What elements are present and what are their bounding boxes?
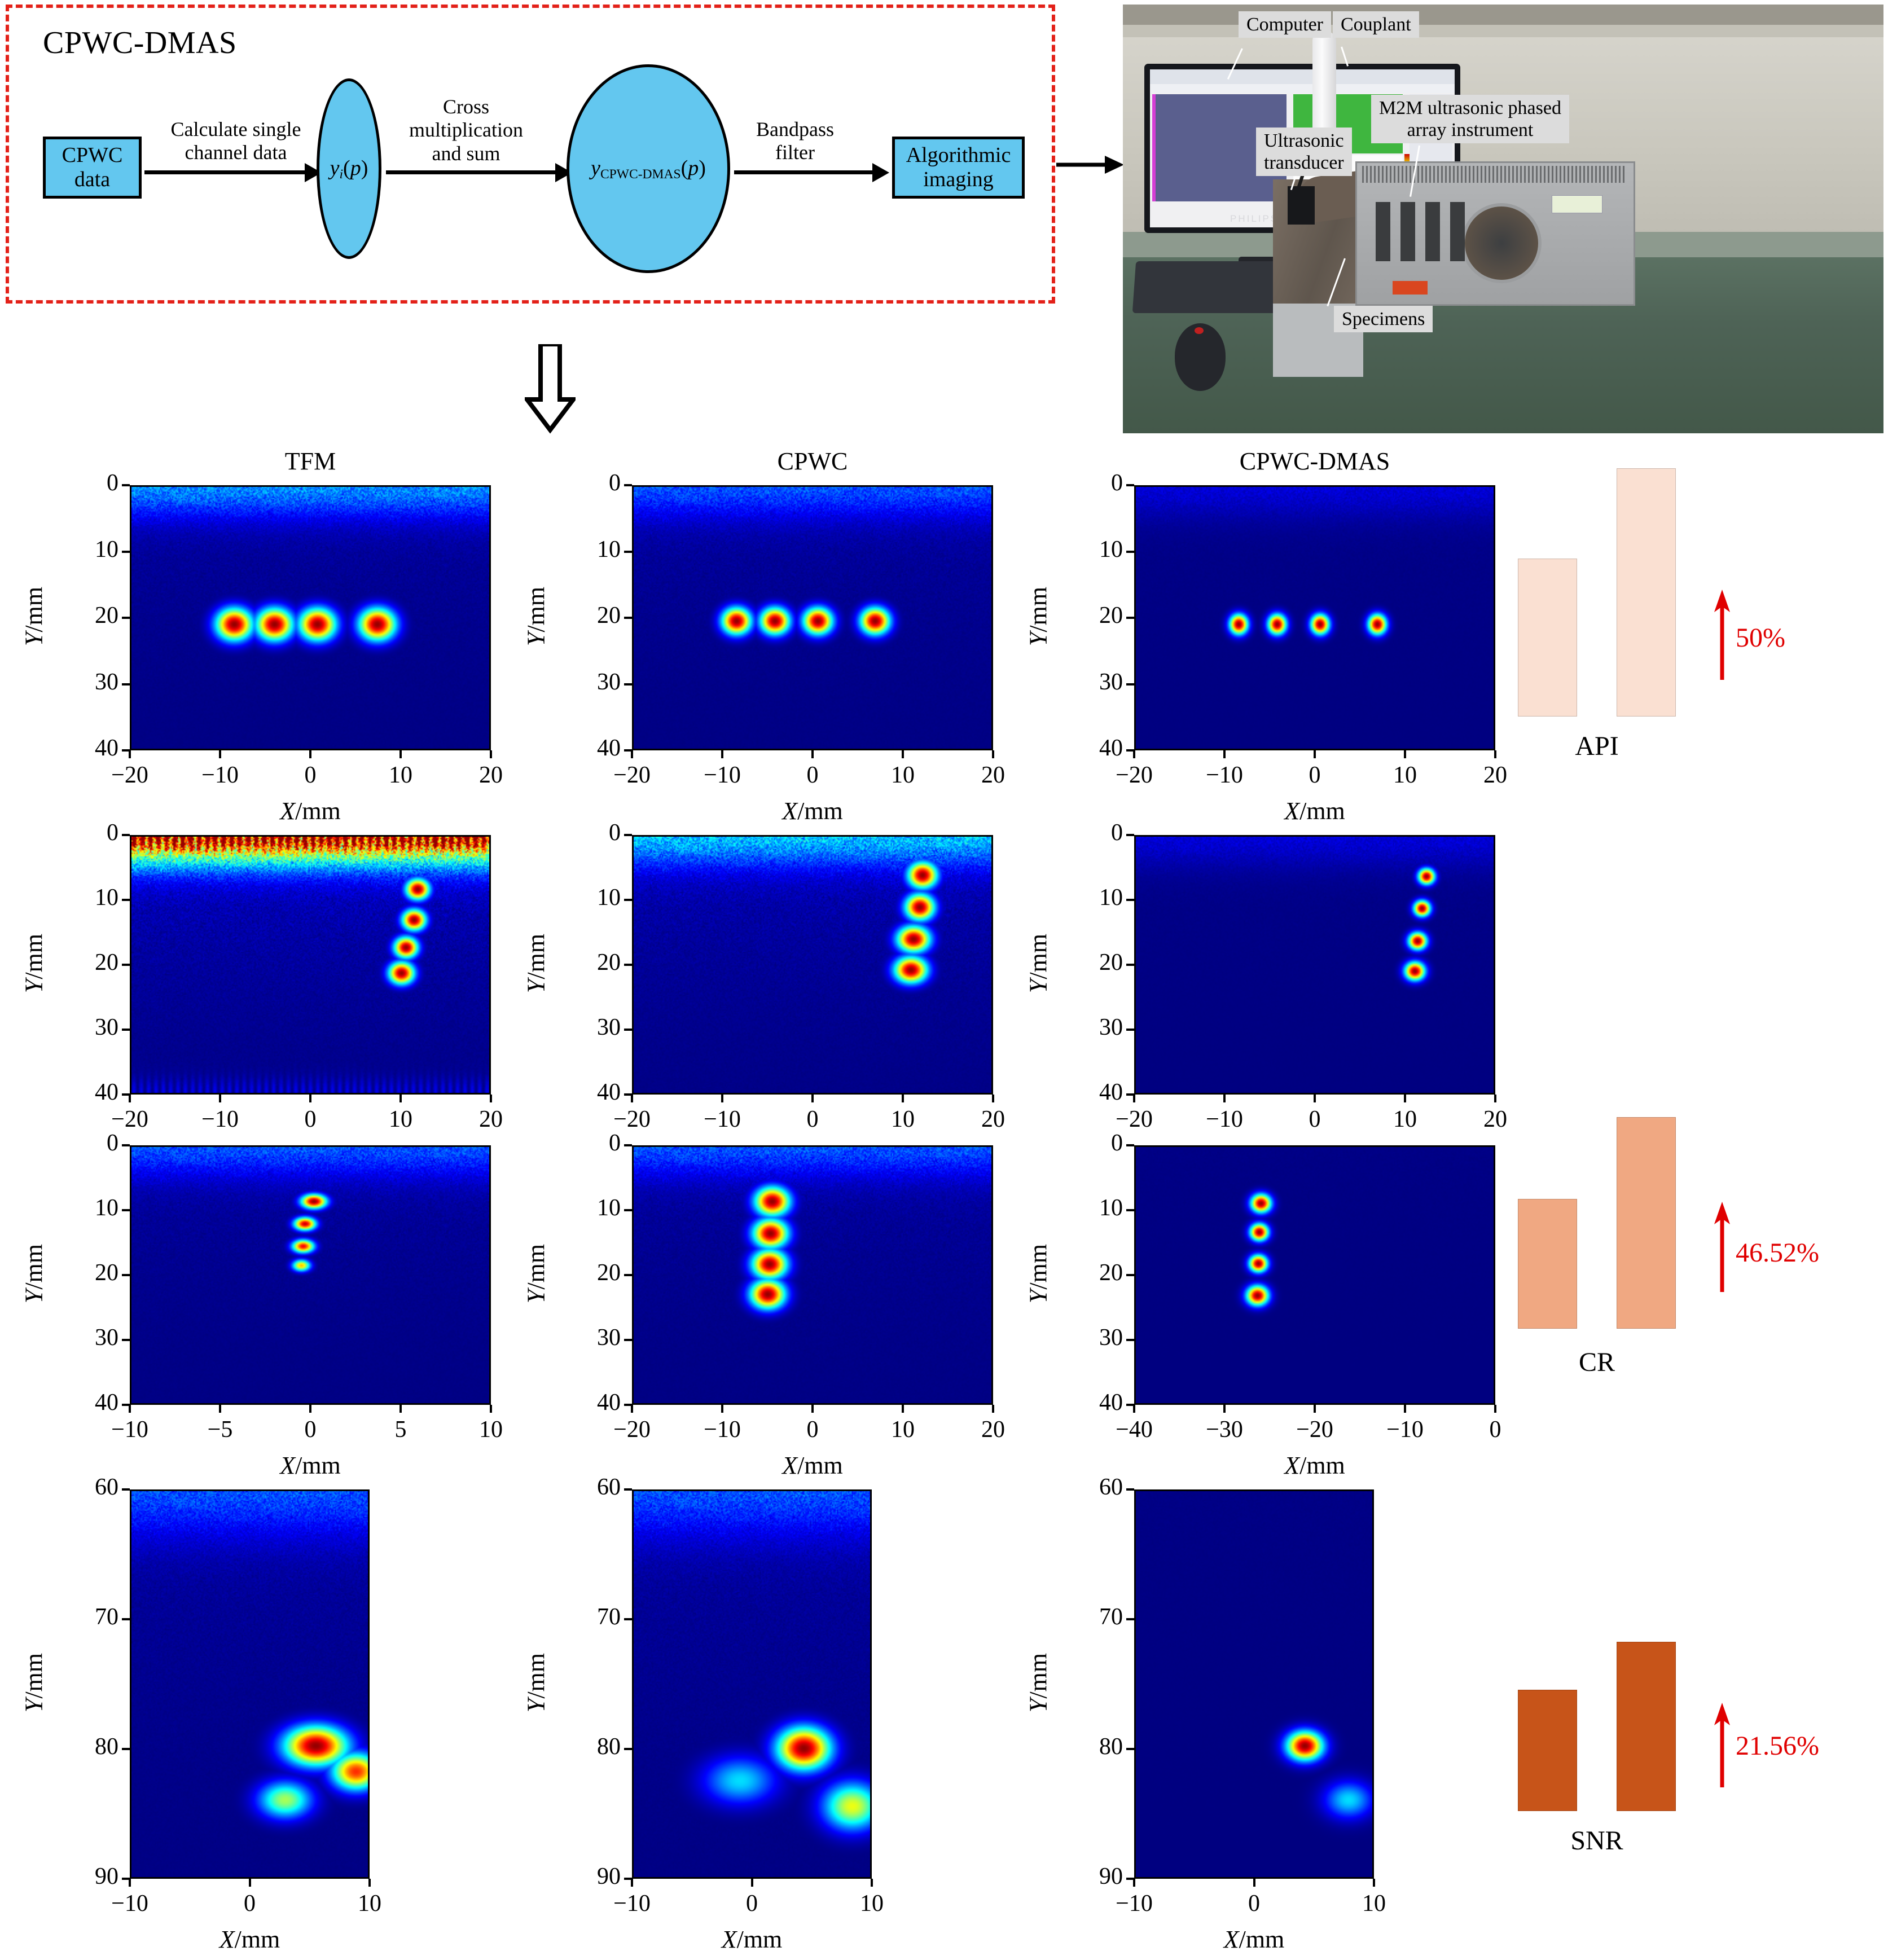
node-cpwc-data-label: CPWCdata [62,143,123,191]
ytick-mark [1126,484,1134,486]
ytick-label: 10 [62,884,118,911]
ytick-mark [122,1029,130,1031]
ytick-label: 30 [564,669,621,696]
improvement-label-api: 50% [1736,622,1785,653]
ytick-label: 40 [1066,735,1123,762]
xtick-label: 0 [1209,1890,1299,1917]
callout-computer: Computer [1239,11,1331,38]
heatmap-image-row4-cpwc [632,1489,872,1879]
ytick-label: 60 [564,1474,621,1501]
heatmap-image-row2-cpwc-dmas [1134,835,1495,1095]
ytick-label: 20 [1066,949,1123,976]
flow-arrow-3-head [872,163,889,182]
axis-label-y-row1-cpwc-dmas: Y/mm [1024,532,1053,701]
ytick-mark [1126,617,1134,619]
heatmap-image-row3-tfm [130,1145,491,1405]
ytick-label: 80 [1066,1733,1123,1760]
xtick-mark [902,1405,904,1413]
xtick-mark [1223,1405,1226,1413]
xtick-mark [1223,1095,1226,1102]
ytick-mark [1126,899,1134,901]
xtick-label: 5 [355,1416,446,1443]
heatmap-image-row1-cpwc [632,485,993,750]
xtick-label: −10 [1360,1416,1450,1443]
ytick-label: 10 [1066,884,1123,911]
ytick-mark [1126,964,1134,966]
instrument-connector-1 [1376,202,1390,261]
flow-arrow-1 [144,170,307,174]
xtick-label: 0 [1270,762,1360,789]
xtick-mark [490,1095,492,1102]
panel-title-cpwc-dmas: CPWC-DMAS [1134,447,1495,476]
xtick-label: 10 [324,1890,415,1917]
ytick-label: 0 [62,1130,118,1157]
axis-label-y-row4-tfm: Y/mm [20,1598,49,1768]
panel-title-tfm: TFM [130,447,491,476]
ytick-label: 30 [62,669,118,696]
node-yi-p[interactable]: yi(p) [317,78,381,259]
instrument-connector-2 [1400,202,1415,261]
ytick-mark [1126,1339,1134,1341]
xtick-mark [399,750,402,758]
improvement-arrow-snr-icon [1713,1703,1732,1787]
ytick-label: 20 [564,1259,621,1286]
heatmap-image-row3-cpwc [632,1145,993,1405]
xtick-label: −20 [85,1106,175,1133]
ytick-mark [624,1029,632,1031]
axis-label-x-row4-cpwc: X/mm [632,1925,872,1954]
xtick-mark [129,750,131,758]
ytick-mark [624,1209,632,1211]
xtick-label: −10 [1179,1106,1270,1133]
ytick-label: 10 [564,536,621,563]
xtick-label: −20 [587,1106,677,1133]
ytick-mark [1126,1618,1134,1620]
ytick-label: 40 [564,735,621,762]
axis-label-x-row3-cpwc-dmas: X/mm [1134,1451,1495,1480]
flowchart-panel: CPWC-DMAS CPWCdata Calculate singlechann… [6,5,1055,304]
ytick-mark [624,617,632,619]
ytick-label: 0 [62,469,118,496]
ytick-label: 30 [1066,1014,1123,1041]
node-ycpwc-dmas-p-label: yCPWC-DMAS(p) [591,156,706,182]
xtick-mark [1223,750,1226,758]
bar-api-cpwc [1518,559,1577,717]
xtick-label: −20 [1270,1416,1360,1443]
axis-label-x-row3-cpwc: X/mm [632,1451,993,1480]
improvement-arrow-api-icon [1713,590,1732,680]
ytick-label: 90 [62,1863,118,1890]
xtick-mark [811,750,814,758]
instrument-fan [1461,203,1542,283]
ytick-mark [624,899,632,901]
axis-label-y-row3-cpwc: Y/mm [522,1189,551,1359]
ytick-label: 20 [1066,1259,1123,1286]
xtick-mark [219,1405,221,1413]
ytick-label: 80 [564,1733,621,1760]
ytick-mark [1126,1029,1134,1031]
ytick-label: 70 [564,1603,621,1631]
xtick-label: 10 [446,1416,536,1443]
xtick-label: −10 [677,762,767,789]
metric-chart-cr: 46.52% CR [1490,1078,1806,1394]
ytick-mark [624,964,632,966]
node-yi-p-label: yi(p) [330,156,368,182]
xtick-mark [902,750,904,758]
xtick-label: 10 [355,1106,446,1133]
xtick-mark [1494,1405,1496,1413]
ytick-mark [1126,1144,1134,1146]
xtick-label: −10 [1089,1890,1179,1917]
bar-api-cpwc-dmas [1617,468,1676,717]
xtick-mark [631,1095,633,1102]
xtick-label: 0 [767,1106,858,1133]
ytick-mark [1126,1209,1134,1211]
xtick-mark [309,750,311,758]
heatmap-image-row2-tfm [130,835,491,1095]
ytick-mark [624,683,632,685]
ytick-mark [122,551,130,553]
xtick-mark [1314,1095,1316,1102]
ytick-label: 40 [1066,1079,1123,1106]
axis-label-x-row4-tfm: X/mm [130,1925,370,1954]
ytick-mark [122,683,130,685]
ytick-label: 40 [62,1079,118,1106]
ytick-label: 90 [564,1863,621,1890]
metric-chart-snr: 21.56% SNR [1490,1625,1806,1941]
ytick-label: 10 [1066,536,1123,563]
axis-label-y-row4-cpwc: Y/mm [522,1598,551,1768]
xtick-mark [490,1405,492,1413]
xtick-label: 10 [858,1416,948,1443]
heatmap-image-row4-cpwc-dmas [1134,1489,1374,1879]
panel-title-cpwc: CPWC [632,447,993,476]
xtick-label: −10 [175,1106,265,1133]
xtick-label: 0 [205,1890,295,1917]
xtick-label: −10 [85,1416,175,1443]
xtick-mark [992,750,994,758]
ytick-mark [624,1618,632,1620]
xtick-mark [129,1405,131,1413]
xtick-label: −20 [1089,762,1179,789]
xtick-mark [631,750,633,758]
edge-label-calculate-single-channel-data: Calculate singlechannel data [151,118,320,165]
axis-label-x-row1-tfm: X/mm [130,797,491,825]
metric-label-api: API [1512,731,1681,762]
heatmap-image-row4-tfm [130,1489,370,1879]
xtick-mark [1404,1405,1406,1413]
xtick-label: 20 [948,1106,1038,1133]
ultrasonic-transducer-probe [1288,186,1315,225]
instrument-connector-4 [1450,202,1465,261]
photo-shelf-edge [1123,25,1883,37]
xtick-label: 10 [1360,762,1450,789]
xtick-mark [129,1095,131,1102]
improvement-arrow-cr-icon [1713,1202,1732,1292]
axis-label-x-row3-tfm: X/mm [130,1451,491,1480]
ytick-label: 40 [1066,1389,1123,1416]
bar-snr-cpwc-dmas [1617,1642,1676,1811]
heatmap-image-row1-cpwc-dmas [1134,485,1495,750]
ytick-label: 40 [564,1389,621,1416]
xtick-mark [871,1879,873,1887]
ytick-mark [122,1339,130,1341]
instrument-m2m-logo [1393,281,1428,295]
ytick-label: 0 [564,469,621,496]
xtick-label: 20 [446,762,536,789]
ytick-label: 30 [564,1324,621,1351]
ytick-label: 30 [1066,669,1123,696]
ytick-mark [624,551,632,553]
xtick-label: −10 [587,1890,677,1917]
mouse-scroll-dot [1195,327,1204,334]
xtick-mark [1253,1879,1255,1887]
screen-toolbar [1150,69,1455,84]
ytick-label: 10 [62,536,118,563]
improvement-label-cr: 46.52% [1736,1237,1819,1268]
xtick-label: −10 [1179,762,1270,789]
ytick-mark [122,1618,130,1620]
ytick-mark [624,1488,632,1491]
ytick-label: 0 [1066,1130,1123,1157]
xtick-mark [631,1405,633,1413]
xtick-label: 10 [858,1106,948,1133]
xtick-mark [490,750,492,758]
bar-cr-cpwc-dmas [1617,1117,1676,1329]
xtick-mark [249,1879,251,1887]
ytick-mark [122,1144,130,1146]
improvement-label-snr: 21.56% [1736,1730,1819,1761]
xtick-label: 0 [1270,1106,1360,1133]
ytick-label: 80 [62,1733,118,1760]
ytick-label: 30 [1066,1324,1123,1351]
experimental-setup-photo: PHILIPS Computer Couplant Ultrasonictran… [1123,5,1883,433]
ytick-label: 0 [62,819,118,846]
axis-label-y-row1-tfm: Y/mm [20,532,49,701]
axis-label-x-row1-cpwc: X/mm [632,797,993,825]
xtick-label: −40 [1089,1416,1179,1443]
ytick-label: 40 [564,1079,621,1106]
ytick-mark [624,834,632,836]
axis-label-y-row2-cpwc-dmas: Y/mm [1024,879,1053,1048]
xtick-mark [219,750,221,758]
ytick-mark [624,1748,632,1750]
xtick-mark [1133,1405,1135,1413]
axis-label-x-row1-cpwc-dmas: X/mm [1134,797,1495,825]
ytick-label: 20 [62,602,118,629]
xtick-mark [219,1095,221,1102]
callout-ultrasonic-transducer: Ultrasonictransducer [1256,128,1352,176]
ytick-label: 0 [1066,469,1123,496]
xtick-mark [368,1879,371,1887]
xtick-mark [1314,750,1316,758]
instrument-connector-3 [1425,202,1440,261]
xtick-label: 0 [767,1416,858,1443]
ytick-label: 70 [62,1603,118,1631]
xtick-label: 0 [265,1106,355,1133]
ytick-mark [1126,1274,1134,1276]
xtick-label: −5 [175,1416,265,1443]
ytick-mark [624,1339,632,1341]
ytick-label: 40 [62,1389,118,1416]
xtick-mark [811,1405,814,1413]
ytick-mark [122,484,130,486]
xtick-mark [721,750,723,758]
monitor-brand-label: PHILIPS [1230,213,1279,225]
metric-label-cr: CR [1512,1347,1681,1378]
callout-couplant: Couplant [1333,11,1419,38]
heatmap-image-row3-cpwc-dmas [1134,1145,1495,1405]
ytick-label: 40 [62,735,118,762]
flow-arrow-3 [734,170,875,174]
screen-bscan-edge [1152,94,1156,201]
bar-cr-cpwc [1518,1199,1577,1329]
bar-snr-cpwc [1518,1690,1577,1811]
node-algorithmic-imaging[interactable]: Algorithmicimaging [892,137,1025,199]
xtick-mark [1133,1879,1135,1887]
flowchart-title: CPWC-DMAS [43,25,237,61]
axis-label-y-row1-cpwc: Y/mm [522,532,551,701]
xtick-mark [751,1879,753,1887]
ytick-label: 30 [62,1014,118,1041]
node-cpwc-data[interactable]: CPWCdata [43,137,142,199]
metric-label-snr: SNR [1512,1825,1681,1856]
xtick-mark [399,1095,402,1102]
xtick-mark [721,1405,723,1413]
axis-label-y-row2-cpwc: Y/mm [522,879,551,1048]
ytick-label: 70 [1066,1603,1123,1631]
xtick-mark [1314,1405,1316,1413]
xtick-mark [309,1095,311,1102]
ytick-mark [1126,1748,1134,1750]
ytick-mark [122,1748,130,1750]
ytick-label: 10 [564,884,621,911]
xtick-label: −10 [85,1890,175,1917]
screen-toolbar-2 [1150,84,1455,93]
xtick-mark [1373,1879,1375,1887]
ytick-mark [1126,683,1134,685]
heatmap-image-row2-cpwc [632,835,993,1095]
xtick-label: 20 [948,762,1038,789]
xtick-mark [399,1405,402,1413]
ytick-label: 30 [62,1324,118,1351]
xtick-label: −10 [677,1106,767,1133]
xtick-label: 0 [265,762,355,789]
axis-label-x-row4-cpwc-dmas: X/mm [1134,1925,1374,1954]
xtick-mark [992,1095,994,1102]
instrument-calibrated-sticker [1552,195,1602,213]
xtick-label: 10 [1360,1106,1450,1133]
xtick-mark [811,1095,814,1102]
edge-label-cross-multiplication-and-sum: Crossmultiplicationand sum [381,95,551,165]
callout-m2m-instrument: M2M ultrasonic phasedarray instrument [1371,95,1569,143]
axis-label-y-row2-tfm: Y/mm [20,879,49,1048]
ytick-label: 10 [1066,1194,1123,1221]
ytick-mark [1126,1488,1134,1491]
xtick-mark [1133,750,1135,758]
ytick-label: 0 [564,819,621,846]
ytick-label: 20 [564,602,621,629]
flow-arrow-2 [386,170,558,174]
xtick-mark [129,1879,131,1887]
ytick-mark [122,1488,130,1491]
ytick-mark [1126,834,1134,836]
ytick-mark [122,1209,130,1211]
xtick-label: −20 [587,762,677,789]
edge-label-bandpass-filter: Bandpassfilter [730,118,860,165]
xtick-label: 10 [1329,1890,1419,1917]
ytick-mark [122,617,130,619]
ytick-mark [122,899,130,901]
xtick-label: 0 [707,1890,797,1917]
xtick-label: −10 [677,1416,767,1443]
ytick-mark [1126,551,1134,553]
ytick-mark [624,1274,632,1276]
ytick-label: 20 [564,949,621,976]
ytick-label: 0 [1066,819,1123,846]
xtick-label: 0 [265,1416,355,1443]
xtick-label: 10 [827,1890,917,1917]
ytick-mark [624,1144,632,1146]
ytick-label: 10 [62,1194,118,1221]
xtick-mark [309,1405,311,1413]
ytick-mark [122,964,130,966]
xtick-mark [721,1095,723,1102]
ytick-label: 10 [564,1194,621,1221]
xtick-mark [1404,750,1406,758]
section-down-arrow-icon [525,344,576,434]
xtick-label: 0 [767,762,858,789]
ytick-label: 20 [1066,602,1123,629]
ytick-label: 0 [564,1130,621,1157]
xtick-label: −30 [1179,1416,1270,1443]
instrument-vent [1362,166,1625,183]
ytick-label: 30 [564,1014,621,1041]
xtick-label: 0 [1450,1416,1540,1443]
axis-label-y-row4-cpwc-dmas: Y/mm [1024,1598,1053,1768]
xtick-mark [631,1879,633,1887]
xtick-label: −20 [1089,1106,1179,1133]
axis-label-y-row3-tfm: Y/mm [20,1189,49,1359]
xtick-label: 10 [355,762,446,789]
callout-specimens: Specimens [1334,306,1433,332]
node-algorithmic-imaging-label: Algorithmicimaging [906,143,1011,191]
flow-to-photo-arrow-icon [1056,148,1124,182]
ytick-label: 60 [1066,1474,1123,1501]
xtick-mark [992,1405,994,1413]
xtick-label: −10 [175,762,265,789]
ytick-label: 60 [62,1474,118,1501]
xtick-label: 20 [446,1106,536,1133]
ytick-label: 20 [62,949,118,976]
ytick-mark [122,834,130,836]
xtick-mark [1133,1095,1135,1102]
ytick-label: 20 [62,1259,118,1286]
heatmap-image-row1-tfm [130,485,491,750]
xtick-mark [902,1095,904,1102]
metric-chart-api: 50% API [1490,468,1806,784]
ytick-mark [624,484,632,486]
xtick-label: 10 [858,762,948,789]
axis-label-y-row3-cpwc-dmas: Y/mm [1024,1189,1053,1359]
ytick-label: 90 [1066,1863,1123,1890]
xtick-label: −20 [85,762,175,789]
node-ycpwc-dmas-p[interactable]: yCPWC-DMAS(p) [567,64,730,273]
xtick-mark [1404,1095,1406,1102]
xtick-label: −20 [587,1416,677,1443]
xtick-label: 20 [948,1416,1038,1443]
ytick-mark [122,1274,130,1276]
